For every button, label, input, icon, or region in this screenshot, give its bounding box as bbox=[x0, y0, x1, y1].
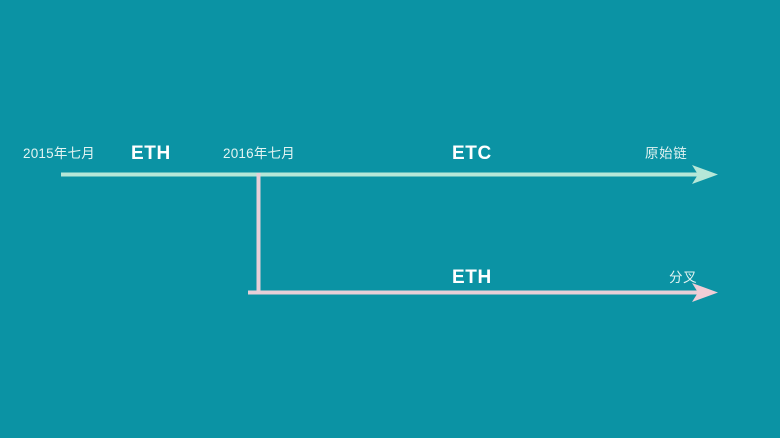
original-chain-end-label: 原始链 bbox=[645, 147, 687, 161]
start-date-label: 2015年七月 bbox=[23, 147, 95, 161]
fork-chain-end-label: 分叉 bbox=[669, 271, 697, 285]
diagram-canvas: 2015年七月 ETH 2016年七月 ETC 原始链 ETH 分叉 bbox=[0, 0, 780, 438]
original-chain-label: ETC bbox=[452, 144, 492, 163]
fork-chain-label: ETH bbox=[452, 268, 492, 287]
original-chain-line-group bbox=[61, 165, 718, 184]
pre-fork-chain-label: ETH bbox=[131, 144, 171, 163]
fork-date-label: 2016年七月 bbox=[223, 147, 295, 161]
fork-timeline-svg bbox=[0, 0, 780, 438]
